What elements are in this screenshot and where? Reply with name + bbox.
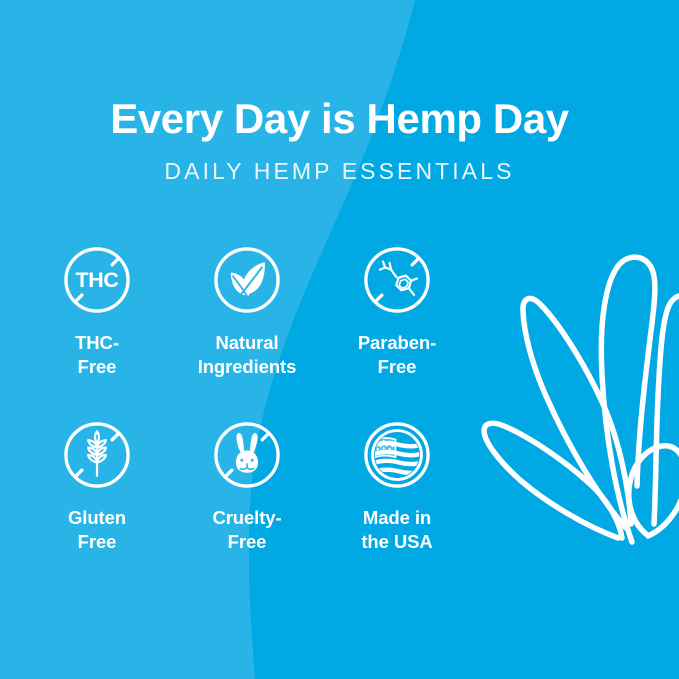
banner-header: Every Day is Hemp Day DAILY HEMP ESSENTI…: [0, 0, 679, 185]
badge-label: GlutenFree: [68, 506, 126, 555]
made-in-usa-flag-icon: [360, 418, 434, 492]
page-title: Every Day is Hemp Day: [0, 0, 679, 141]
natural-leaves-icon: [210, 243, 284, 317]
hemp-promo-banner: Every Day is Hemp Day DAILY HEMP ESSENTI…: [0, 0, 679, 679]
badge-natural-ingredients: NaturalIngredients: [172, 243, 322, 418]
thc-free-icon: THC: [60, 243, 134, 317]
badge-label: Cruelty-Free: [212, 506, 281, 555]
badge-thc-free: THC THC-Free: [22, 243, 172, 418]
gluten-free-wheat-icon: [60, 418, 134, 492]
badge-made-in-usa: Made inthe USA: [322, 418, 472, 593]
badge-label: Paraben-Free: [358, 331, 436, 380]
thc-icon-text: THC: [76, 268, 119, 292]
cruelty-free-rabbit-icon: [210, 418, 284, 492]
badge-paraben-free: Paraben-Free: [322, 243, 472, 418]
feature-badge-grid: THC THC-Free NaturalIngredients: [22, 243, 472, 593]
badge-cruelty-free: Cruelty-Free: [172, 418, 322, 593]
badge-gluten-free: GlutenFree: [22, 418, 172, 593]
badge-label: NaturalIngredients: [198, 331, 297, 380]
paraben-free-icon: [360, 243, 434, 317]
badge-label: Made inthe USA: [361, 506, 432, 555]
badge-label: THC-Free: [75, 331, 119, 380]
page-subtitle: DAILY HEMP ESSENTIALS: [0, 141, 679, 185]
